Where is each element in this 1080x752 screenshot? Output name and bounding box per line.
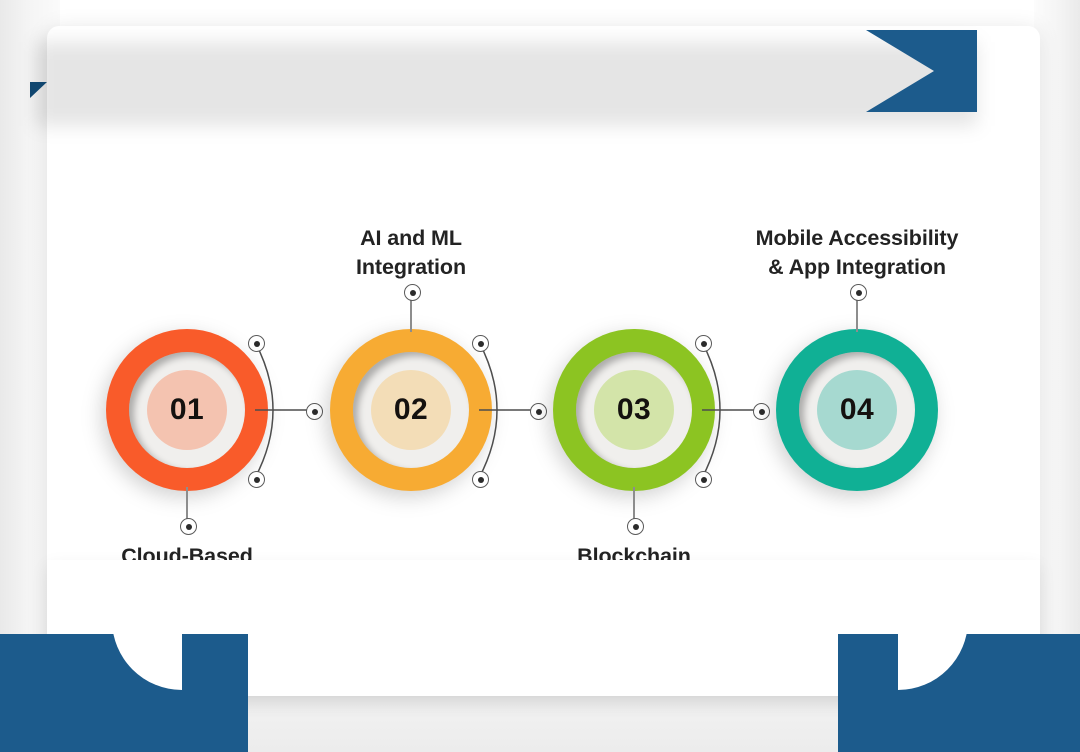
- node-02-label-dot: [404, 284, 421, 301]
- node-03-label-dot: [627, 518, 644, 535]
- connector-dot-02-03: [530, 403, 547, 420]
- connector-dot-03-04: [753, 403, 770, 420]
- node-04-label-dot: [850, 284, 867, 301]
- node-02-arc-dot-bottom: [472, 471, 489, 488]
- node-03-arc-dot-top: [695, 335, 712, 352]
- node-01-arc-dot-top: [248, 335, 265, 352]
- node-02-label-line2: Integration: [285, 253, 537, 282]
- ribbon-shadow: [36, 42, 977, 126]
- node-04[interactable]: 04: [776, 329, 938, 491]
- connector-dot-01-02: [306, 403, 323, 420]
- node-02-label-stem: [410, 296, 412, 332]
- node-04-number: 04: [840, 393, 874, 427]
- node-03-arc: [630, 330, 725, 490]
- header-ribbon: Trends Related To Accounting Software: [30, 30, 977, 126]
- node-04-label: Mobile Accessibility & App Integration: [722, 224, 992, 282]
- node-02-label: AI and ML Integration: [285, 224, 537, 282]
- ribbon-fold-triangle: [30, 82, 47, 98]
- node-03-arc-dot-bottom: [695, 471, 712, 488]
- node-04-label-line1: Mobile Accessibility: [722, 224, 992, 253]
- node-02-arc-dot-top: [472, 335, 489, 352]
- node-04-label-stem: [856, 296, 858, 332]
- node-02-arc: [407, 330, 502, 490]
- node-01-arc: [183, 330, 278, 490]
- node-04-label-line2: & App Integration: [722, 253, 992, 282]
- infographic-canvas: Trends Related To Accounting Software 01…: [0, 0, 1080, 752]
- node-02-label-line1: AI and ML: [285, 224, 537, 253]
- node-01-arc-dot-bottom: [248, 471, 265, 488]
- node-01-label-dot: [180, 518, 197, 535]
- node-04-inner-circle: 04: [817, 370, 897, 450]
